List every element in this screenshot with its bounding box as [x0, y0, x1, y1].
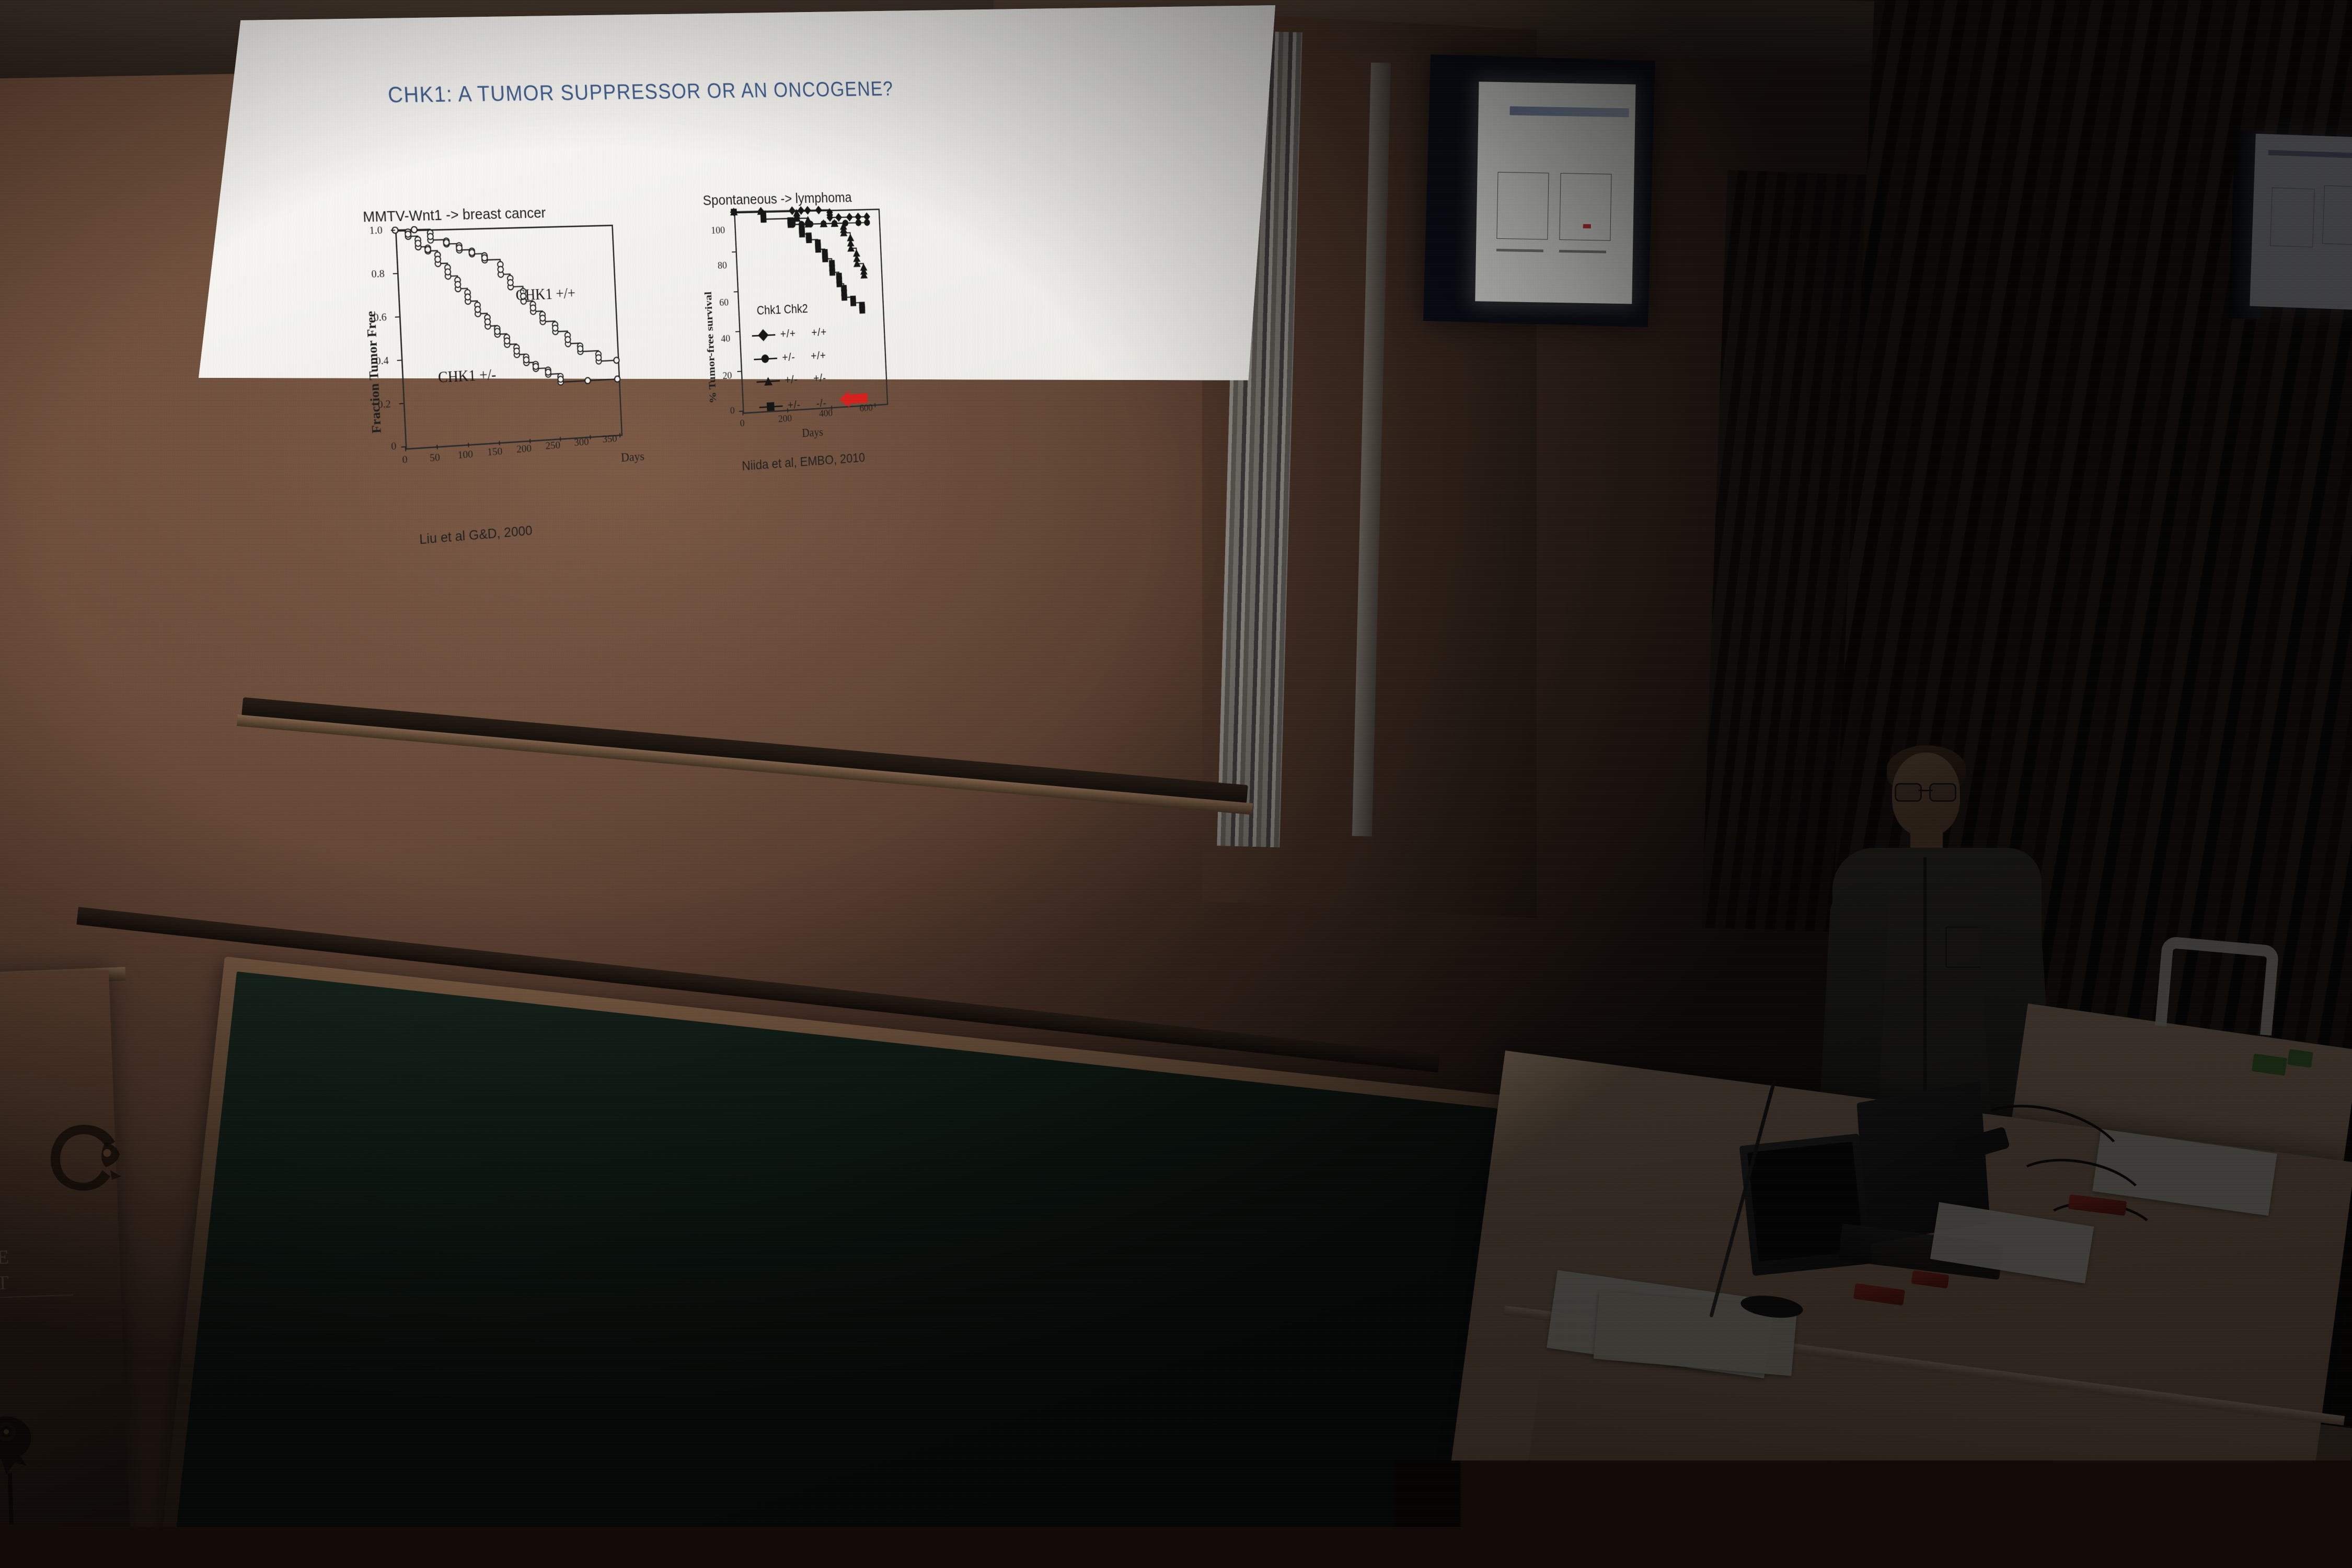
- glasses-icon: [1895, 783, 1956, 799]
- banner-line-3: CK: [0, 1298, 89, 1328]
- chart-title-left: MMTV-Wnt1 -> breast cancer: [362, 205, 546, 226]
- slide-title: CHK1: A TUMOR SUPPRESSOR OR AN ONCOGENE?: [291, 76, 971, 109]
- monitor-caption-left: [1496, 249, 1543, 252]
- monitor-plot-left: [1496, 172, 1549, 240]
- x-axis-label-right: Days: [802, 426, 823, 441]
- legend-chk2-value: +/+: [811, 349, 827, 363]
- legend-line-icon: [754, 358, 777, 360]
- banner-text-bottom: CK: [0, 1298, 89, 1328]
- chart-title-right: Spontaneous -> lymphoma: [702, 190, 852, 209]
- legend-line-icon: [752, 334, 776, 337]
- confidence-monitor: [1423, 54, 1655, 327]
- green-adapter: [2287, 1049, 2313, 1068]
- legend-chk1-value: +/-: [785, 373, 798, 387]
- curve-label-chk1-wt: CHK1 +/+: [515, 284, 576, 304]
- secondary-screen-plot-left: [2270, 188, 2315, 248]
- km-curves-left: [362, 224, 656, 469]
- legend-line-icon: [756, 380, 780, 383]
- legend-chk2-value: +/+: [811, 326, 827, 339]
- citation-left: Liu et al G&D, 2000: [419, 523, 533, 548]
- red-arrow-icon: [838, 391, 869, 412]
- banner-secondary-emblem-icon: [0, 1406, 68, 1526]
- banner-line-1: CHE: [0, 1242, 89, 1272]
- lecture-hall-photo: CHK1: A TUMOR SUPPRESSOR OR AN ONCOGENE?…: [0, 0, 2352, 1568]
- secondary-screen-plot-right: [2322, 186, 2352, 246]
- chart-lymphoma: Spontaneous -> lymphoma % Tumor-free sur…: [697, 207, 937, 480]
- legend-chk1-value: +/+: [780, 327, 796, 341]
- banner-line-2: TÄT: [0, 1267, 90, 1297]
- legend-chk2-value: -/-: [816, 397, 827, 410]
- chart-breast-cancer: MMTV-Wnt1 -> breast cancer Fraction Tumo…: [362, 224, 658, 514]
- slide: CHK1: A TUMOR SUPPRESSOR OR AN ONCOGENE?…: [187, 5, 1109, 797]
- legend-chk1-value: +/-: [787, 398, 801, 412]
- legend-title: Chk1 Chk2: [756, 302, 808, 318]
- square-marker-icon: [767, 402, 775, 411]
- confidence-monitor-screen: [1475, 82, 1635, 304]
- triangle-marker-icon: [764, 377, 773, 386]
- banner-text: CHE TÄT: [0, 1242, 90, 1297]
- monitor-plot-right: [1559, 173, 1611, 241]
- serpent-fish-emblem-icon: [44, 1119, 123, 1197]
- monitor-caption-right: [1559, 250, 1606, 253]
- monitor-red-arrow-icon: [1583, 224, 1591, 229]
- diamond-marker-icon: [758, 329, 768, 341]
- legend-chk2-value: +/-: [813, 372, 827, 385]
- legend-chk1-value: +/-: [782, 351, 795, 364]
- monitor-slide-title: [1509, 107, 1629, 118]
- curve-label-chk1-het: CHK1 +/-: [437, 366, 497, 387]
- white-handle: [2155, 936, 2279, 1036]
- circle-marker-icon: [761, 354, 769, 363]
- legend-line-icon: [759, 405, 783, 408]
